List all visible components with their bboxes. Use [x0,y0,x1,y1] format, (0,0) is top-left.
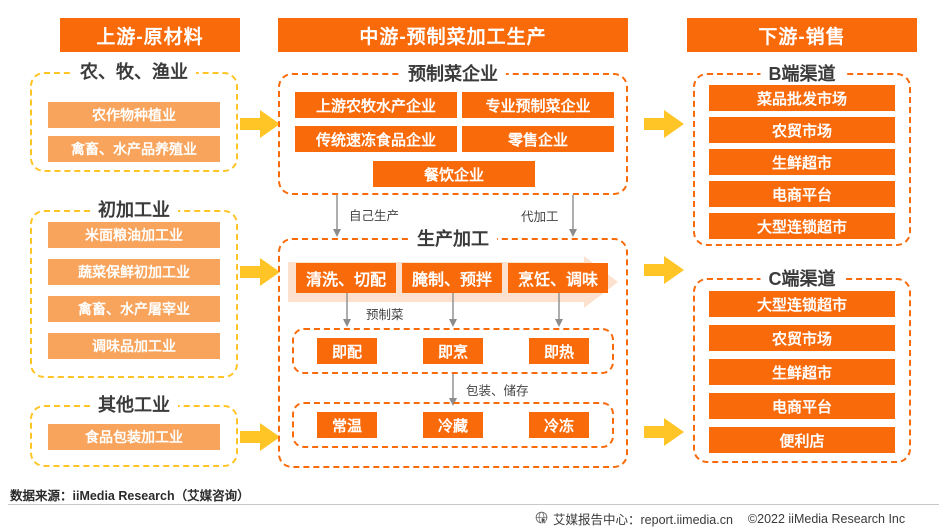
midstream-banner: 中游-预制菜加工生产 [278,18,628,52]
prepared-type-chip: 即配 [317,338,377,364]
flow-arrow-midstream-to-downstream-3 [644,418,684,446]
upstream-banner: 上游-原材料 [60,18,240,52]
flow-arrow-upstream-to-midstream-1 [240,110,280,138]
midstream-enterprise-chip: 上游农牧水产企业 [295,92,457,118]
upstream-chip: 调味品加工业 [48,333,220,359]
midstream-enterprise-chip: 专业预制菜企业 [462,92,614,118]
upstream-group-primary-processing-title: 初加工业 [90,196,178,222]
flow-arrow-upstream-to-midstream-2 [240,258,280,286]
connector-self-produce [330,195,344,244]
upstream-chip: 蔬菜保鲜初加工业 [48,259,220,285]
upstream-chip: 禽畜、水产品养殖业 [48,136,220,162]
prepared-type-chip: 即烹 [423,338,483,364]
upstream-group-agriculture-title: 农、牧、渔业 [72,58,196,84]
upstream-chip: 农作物种植业 [48,102,220,128]
downstream-banner: 下游-销售 [687,18,917,52]
label-outsourced: 代加工 [521,206,559,225]
flow-arrow-upstream-to-midstream-3 [240,423,280,451]
globe-cursor-icon [535,511,548,527]
downstream-channel-chip: 农贸市场 [709,325,895,351]
footer-divider [8,504,939,505]
storage-type-chip: 常温 [317,412,377,438]
upstream-group-other-title: 其他工业 [90,391,178,417]
data-source-note: 数据来源：iiMedia Research（艾媒咨询） [10,485,250,504]
supply-chain-diagram: 上游-原材料 农、牧、渔业 农作物种植业 禽畜、水产品养殖业 初加工业 米面粮油… [0,0,947,527]
downstream-channel-chip: 电商平台 [709,393,895,419]
footer-copyright-text: ©2022 iiMedia Research Inc [748,512,905,526]
downstream-channel-chip: 农贸市场 [709,117,895,143]
downstream-group-b-channel-title: B端渠道 [761,60,844,86]
flow-arrow-midstream-to-downstream-1 [644,110,684,138]
label-package-store: 包装、储存 [466,380,529,399]
upstream-chip: 禽畜、水产屠宰业 [48,296,220,322]
prepared-type-chip: 即热 [529,338,589,364]
midstream-enterprise-chip: 零售企业 [462,126,614,152]
midstream-enterprise-chip: 传统速冻食品企业 [295,126,457,152]
upstream-chip: 米面粮油加工业 [48,222,220,248]
production-step-chip: 烹饪、调味 [508,263,608,293]
downstream-channel-chip: 生鲜超市 [709,359,895,385]
footer-report-center-text: 艾媒报告中心：report.iimedia.cn [553,509,733,528]
upstream-chip: 食品包装加工业 [48,424,220,450]
storage-type-chip: 冷冻 [529,412,589,438]
production-step-chip: 腌制、预拌 [402,263,502,293]
downstream-channel-chip: 便利店 [709,427,895,453]
production-step-chip: 清洗、切配 [296,263,396,293]
flow-arrow-midstream-to-downstream-2 [644,256,684,284]
midstream-group-enterprises-title: 预制菜企业 [400,60,506,86]
storage-type-chip: 冷藏 [423,412,483,438]
footer-report-center: 艾媒报告中心：report.iimedia.cn ©2022 iiMedia R… [535,509,905,528]
connector-outsourced [566,195,580,244]
downstream-channel-chip: 大型连锁超市 [709,291,895,317]
label-prepared-dish: 预制菜 [366,304,404,323]
midstream-enterprise-chip: 餐饮企业 [373,161,535,187]
label-self-produce: 自己生产 [349,205,399,224]
downstream-channel-chip: 菜品批发市场 [709,85,895,111]
downstream-channel-chip: 电商平台 [709,181,895,207]
downstream-channel-chip: 大型连锁超市 [709,213,895,239]
downstream-channel-chip: 生鲜超市 [709,149,895,175]
downstream-group-c-channel-title: C端渠道 [761,265,844,291]
midstream-group-production-title: 生产加工 [409,225,497,251]
